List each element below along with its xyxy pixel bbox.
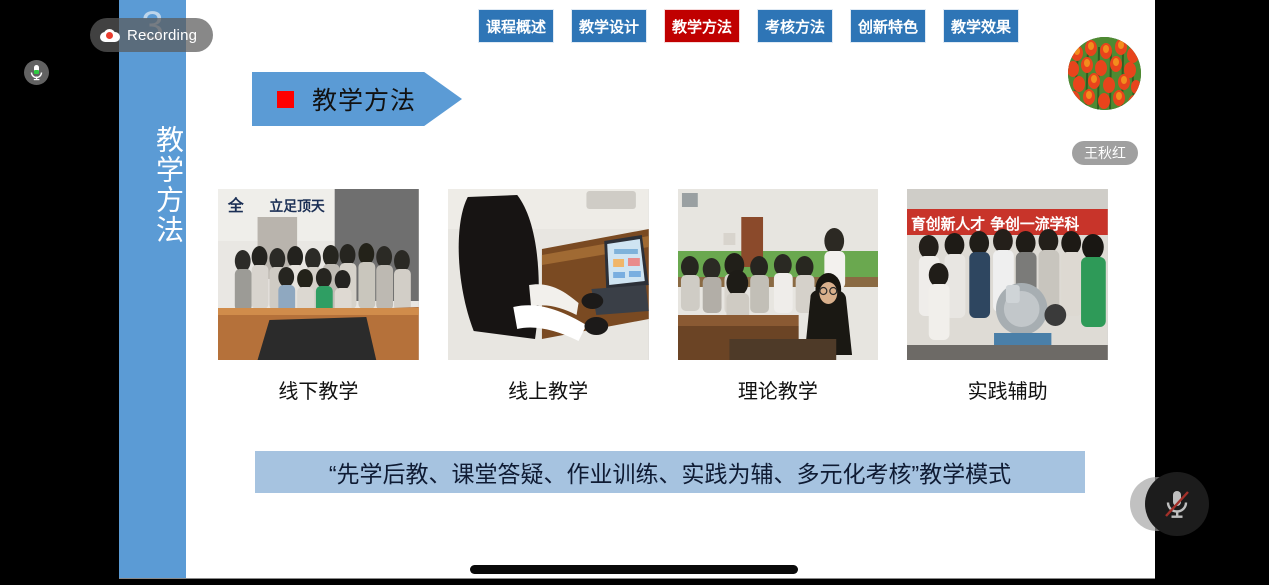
photo-caption-row: 线下教学 线上教学 理论教学 实践辅助 <box>218 375 1108 404</box>
mute-button[interactable] <box>1145 472 1209 536</box>
tab-course-overview[interactable]: 课程概述 <box>478 9 554 43</box>
photo-caption: 实践辅助 <box>907 375 1108 404</box>
slide-sidebar-vertical-title: 教学方法 <box>119 100 186 270</box>
photo-online-teaching <box>448 189 649 360</box>
avatar <box>1068 37 1141 110</box>
photo-caption: 线上教学 <box>448 375 649 404</box>
photo-row: 全 立足顶天 <box>218 189 1108 360</box>
photo-caption: 理论教学 <box>678 375 879 404</box>
svg-text:育创新人才 争创一流学科: 育创新人才 争创一流学科 <box>911 215 1079 233</box>
participant-name-label: 王秋红 <box>1084 143 1126 163</box>
tab-teaching-methods[interactable]: 教学方法 <box>664 9 740 43</box>
slide-sidebar-vertical-title-text: 教学方法 <box>119 125 186 245</box>
screen-share-viewport: 3 教学方法 教学方法 全 立足顶天 <box>0 0 1269 585</box>
participant-name-badge: 王秋红 <box>1072 141 1138 165</box>
microphone-active-icon <box>24 60 49 85</box>
presentation-slide: 3 教学方法 教学方法 全 立足顶天 <box>119 0 1155 578</box>
red-square-bullet-icon <box>277 91 294 108</box>
slide-title-text: 教学方法 <box>312 81 416 117</box>
slide-summary-text: “先学后教、课堂答疑、作业训练、实践为辅、多元化考核”教学模式 <box>329 455 1011 489</box>
tab-innovation-features[interactable]: 创新特色 <box>850 9 926 43</box>
photo-caption: 线下教学 <box>218 375 419 404</box>
slide-bottom-divider <box>119 578 1155 579</box>
tab-teaching-design[interactable]: 教学设计 <box>571 9 647 43</box>
slide-nav-tabs: 课程概述 教学设计 教学方法 考核方法 创新特色 教学效果 <box>478 9 1019 43</box>
recording-label: Recording <box>127 27 197 44</box>
slide-summary-banner: “先学后教、课堂答疑、作业训练、实践为辅、多元化考核”教学模式 <box>255 451 1085 493</box>
tab-assessment-methods[interactable]: 考核方法 <box>757 9 833 43</box>
speaker-video-tile[interactable] <box>1068 37 1141 110</box>
slide-sidebar: 3 教学方法 <box>119 0 186 578</box>
svg-text:全: 全 <box>227 196 245 215</box>
photo-practice-support: 育创新人才 争创一流学科 <box>907 189 1108 360</box>
cloud-record-icon <box>100 29 120 42</box>
photo-theory-teaching <box>678 189 879 360</box>
photo-offline-teaching: 全 立足顶天 <box>218 189 419 360</box>
slide-title-banner: 教学方法 <box>252 72 462 126</box>
svg-text:立足顶天: 立足顶天 <box>269 198 324 215</box>
tab-teaching-outcomes[interactable]: 教学效果 <box>943 9 1019 43</box>
microphone-muted-icon <box>1162 487 1192 521</box>
recording-badge: Recording <box>90 18 213 52</box>
playback-progress-bar[interactable] <box>470 565 798 574</box>
